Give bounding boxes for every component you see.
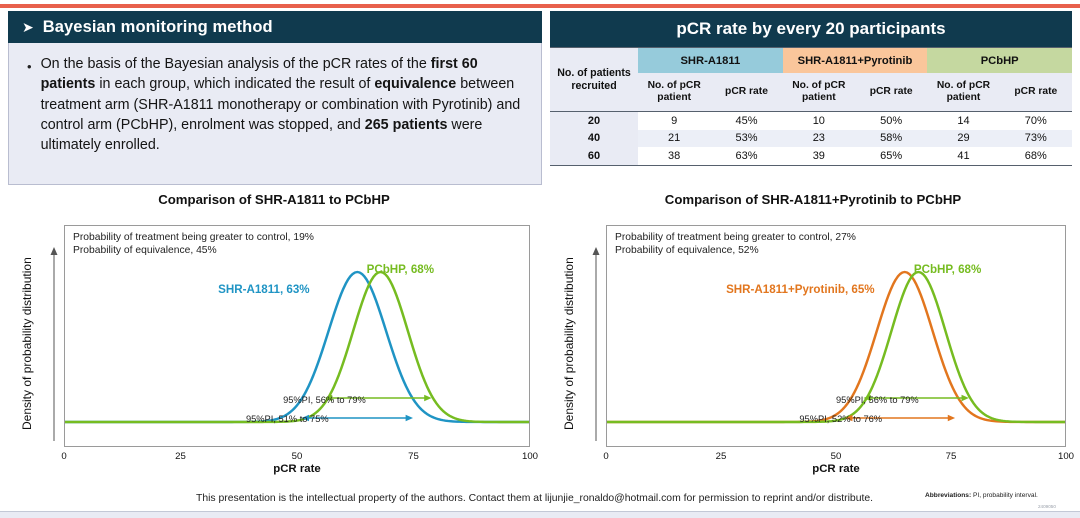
cell-1: 45%	[710, 112, 782, 130]
pcr-rate-table-panel: pCR rate by every 20 participants No. of…	[550, 11, 1072, 185]
bullet-icon: •	[27, 60, 32, 184]
plot-area: Density of probability distribution Prob…	[4, 211, 544, 479]
x-tick-25: 25	[175, 451, 186, 462]
chart-shr-a1811-vs-pcbhp: Comparison of SHR-A1811 to PCbHP Density…	[4, 188, 544, 488]
y-axis-label: Density of probability distribution	[18, 239, 36, 449]
chart-title: Comparison of SHR-A1811+Pyrotinib to PCb…	[546, 188, 1080, 207]
subheader-4: No. of pCR patient	[927, 73, 999, 112]
chart-shr-a1811-pyrotinib-vs-pcbhp: Comparison of SHR-A1811+Pyrotinib to PCb…	[546, 188, 1080, 488]
cell-2: 23	[783, 130, 855, 148]
subheader-0: No. of pCR patient	[638, 73, 710, 112]
cell-recruited: 20	[550, 112, 638, 130]
cell-1: 53%	[710, 130, 782, 148]
cell-3: 58%	[855, 130, 927, 148]
subheader-5: pCR rate	[1000, 73, 1072, 112]
table-row: 20945%1050%1470%	[550, 112, 1072, 130]
y-axis-arrow-icon	[48, 247, 60, 443]
abbreviations-text: PI, probability interval.	[971, 492, 1038, 499]
cell-4: 14	[927, 112, 999, 130]
x-axis-label: pCR rate	[606, 463, 1066, 475]
x-tick-50: 50	[831, 451, 842, 462]
subheader-3: pCR rate	[855, 73, 927, 112]
table-title: pCR rate by every 20 participants	[550, 11, 1072, 47]
cell-5: 73%	[1000, 130, 1072, 148]
x-tick-75: 75	[408, 451, 419, 462]
group-header-pcbhp: PCbHP	[927, 48, 1072, 74]
cell-0: 9	[638, 112, 710, 130]
group-header-shr-a1811-pyrotinib: SHR-A1811+Pyrotinib	[783, 48, 928, 74]
pi-label-pcbhp: 95%PI, 56% to 79%	[836, 395, 919, 405]
body-fragment-2: in each group, which indicated the resul…	[95, 76, 374, 92]
cell-3: 50%	[855, 112, 927, 130]
top-accent-bar	[0, 4, 1080, 8]
table-row: 402153%2358%2973%	[550, 130, 1072, 148]
x-axis: 0255075100 pCR rate	[64, 449, 530, 479]
subheader-1: pCR rate	[710, 73, 782, 112]
cell-recruited: 40	[550, 130, 638, 148]
arrow-right-icon: ➤	[22, 20, 34, 34]
cell-recruited: 60	[550, 147, 638, 165]
cell-0: 21	[638, 130, 710, 148]
x-tick-0: 0	[603, 451, 608, 462]
abbreviations-note: Abbreviations: PI, probability interval.	[925, 492, 1038, 499]
table-group-header-row: No. of patients recruited SHR-A1811 SHR-…	[550, 48, 1072, 74]
header-no-of-patients-recruited: No. of patients recruited	[550, 48, 638, 112]
table-row: 603863%3965%4168%	[550, 147, 1072, 165]
x-tick-0: 0	[61, 451, 66, 462]
cell-4: 29	[927, 130, 999, 148]
panel-body: • On the basis of the Bayesian analysis …	[8, 43, 542, 185]
y-axis-arrow-icon	[590, 247, 602, 443]
bayesian-method-panel: ➤ Bayesian monitoring method • On the ba…	[8, 11, 542, 185]
density-curves	[607, 226, 1065, 446]
x-axis-label: pCR rate	[64, 463, 530, 475]
panel-title: Bayesian monitoring method	[43, 18, 273, 37]
x-tick-25: 25	[716, 451, 727, 462]
x-axis: 0255075100 pCR rate	[606, 449, 1066, 479]
x-tick-75: 75	[946, 451, 957, 462]
pi-label-shr-a1811-pyrotinib: 95%PI, 52% to 76%	[799, 414, 882, 424]
series-label-pcbhp: PCbHP, 68%	[914, 263, 981, 276]
cell-5: 68%	[1000, 147, 1072, 165]
group-header-shr-a1811: SHR-A1811	[638, 48, 783, 74]
body-fragment-0: On the basis of the Bayesian analysis of…	[41, 56, 431, 72]
cell-0: 38	[638, 147, 710, 165]
pi-label-pcbhp: 95%PI, 56% to 79%	[283, 395, 366, 405]
table-body: 20945%1050%1470%402153%2358%2973%603863%…	[550, 112, 1072, 166]
chart-title: Comparison of SHR-A1811 to PCbHP	[4, 188, 544, 207]
x-tick-100: 100	[1058, 451, 1074, 462]
body-fragment-5: 265 patients	[365, 117, 448, 133]
series-label-shr-a1811-pyrotinib: SHR-A1811+Pyrotinib, 65%	[726, 283, 875, 296]
plot-area: Density of probability distribution Prob…	[546, 211, 1080, 479]
abbreviations-label: Abbreviations:	[925, 492, 971, 499]
x-tick-50: 50	[292, 451, 303, 462]
density-curves	[65, 226, 529, 446]
cell-2: 10	[783, 112, 855, 130]
pi-label-shr-a1811: 95%PI, 51% to 75%	[246, 414, 329, 424]
series-label-shr-a1811: SHR-A1811, 63%	[218, 283, 310, 296]
x-tick-100: 100	[522, 451, 538, 462]
footer-copyright-text: This presentation is the intellectual pr…	[196, 493, 873, 504]
plot-box: Probability of treatment being greater t…	[606, 225, 1066, 447]
cell-5: 70%	[1000, 112, 1072, 130]
document-id: 2409050	[1038, 504, 1056, 509]
pcr-rate-table: No. of patients recruited SHR-A1811 SHR-…	[550, 47, 1072, 166]
series-label-pcbhp: PCbHP, 68%	[367, 263, 434, 276]
panel-body-text: On the basis of the Bayesian analysis of…	[41, 54, 527, 184]
panel-header: ➤ Bayesian monitoring method	[8, 11, 542, 43]
body-fragment-3: equivalence	[374, 76, 456, 92]
cell-3: 65%	[855, 147, 927, 165]
subheader-2: No. of pCR patient	[783, 73, 855, 112]
cell-1: 63%	[710, 147, 782, 165]
cell-2: 39	[783, 147, 855, 165]
cell-4: 41	[927, 147, 999, 165]
plot-box: Probability of treatment being greater t…	[64, 225, 530, 447]
y-axis-label: Density of probability distribution	[560, 239, 578, 449]
